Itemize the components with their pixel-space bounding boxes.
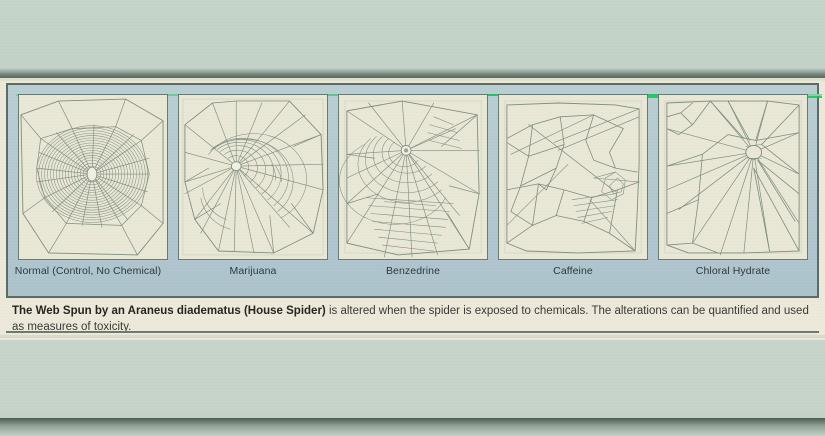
screenshot-root: Normal (Control, No Chemical) Marijuana … (0, 0, 825, 413)
panel-caffeine[interactable] (498, 94, 648, 260)
web-plate: Normal (Control, No Chemical) Marijuana … (6, 83, 819, 298)
web-diagram-benzedrine (339, 95, 487, 259)
figure-bottom-rule (6, 331, 819, 333)
panel-chloral[interactable] (658, 94, 808, 260)
panel-normal[interactable] (18, 94, 168, 260)
panel-label-marijuana: Marijuana (173, 265, 333, 277)
panel-label-benzedrine: Benzedrine (333, 265, 493, 277)
panel-label-caffeine: Caffeine (493, 265, 653, 277)
panel-label-chloral: Chloral Hydrate (653, 265, 813, 277)
figure-top-rule (0, 78, 825, 81)
figure-caption: The Web Spun by an Araneus diadematus (H… (6, 304, 819, 334)
panel-label-normal: Normal (Control, No Chemical) (8, 265, 168, 277)
web-diagram-normal (19, 95, 167, 259)
figure-top-shadow (0, 68, 825, 78)
figure-bottom-edge (0, 335, 825, 338)
figure-bottom-shadow (0, 418, 825, 436)
panel-benzedrine[interactable] (338, 94, 488, 260)
web-diagram-marijuana (179, 95, 327, 259)
web-diagram-chloral (659, 95, 807, 259)
panel-marijuana[interactable] (178, 94, 328, 260)
panel-label-row: Normal (Control, No Chemical) Marijuana … (8, 265, 821, 295)
figure-caption-lead: The Web Spun by an Araneus diadematus (H… (12, 305, 326, 317)
web-diagram-caffeine (499, 95, 647, 259)
figure-block: Normal (Control, No Chemical) Marijuana … (0, 78, 825, 340)
